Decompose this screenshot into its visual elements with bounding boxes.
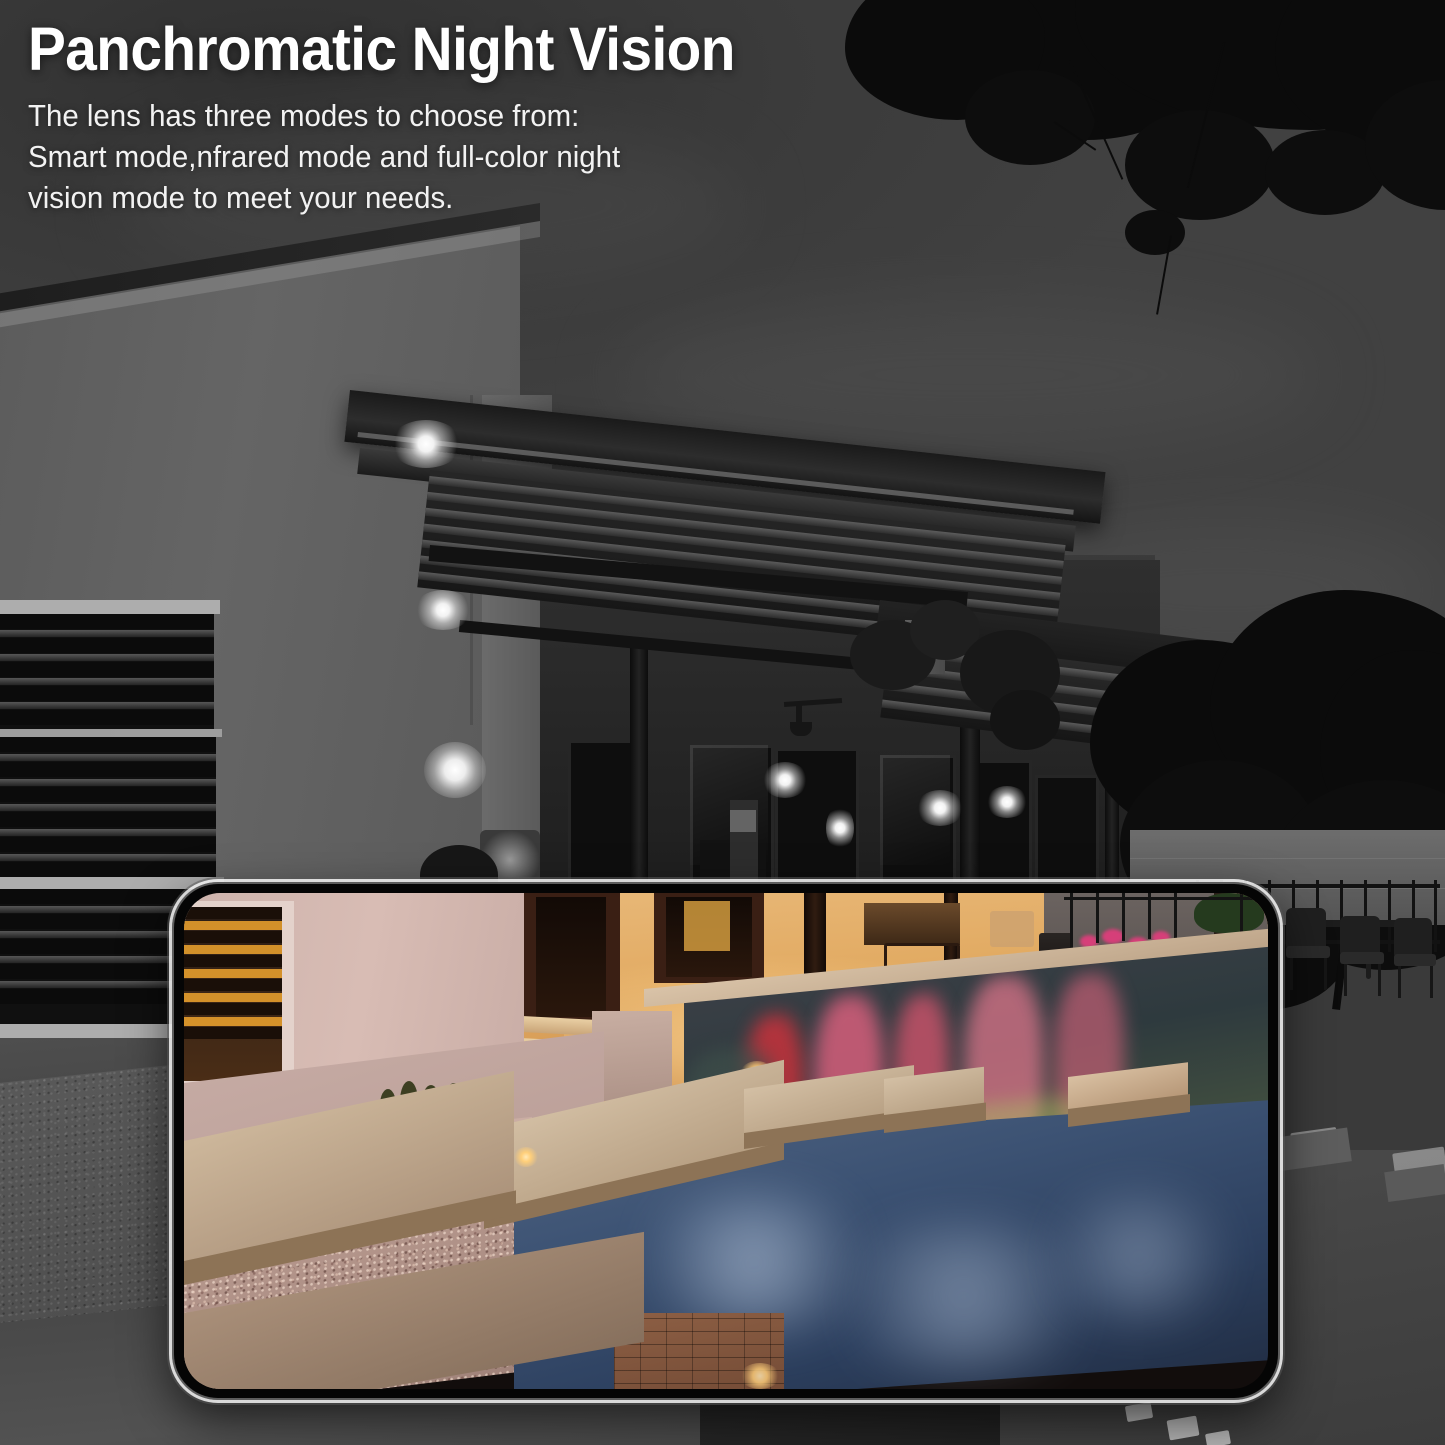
fence-rail-color (1064, 897, 1264, 900)
fence-picket (1070, 893, 1073, 949)
louvered-window-middle (0, 737, 216, 877)
soffit-spotlight (916, 790, 964, 826)
ceiling-fan-motor (790, 722, 812, 736)
fence-picket (1148, 893, 1151, 939)
stone-course-line (1130, 858, 1445, 859)
soffit-spotlight (414, 590, 472, 630)
interior-appliance-glass (730, 810, 756, 832)
soffit-spotlight (762, 762, 808, 798)
interior-table-color (990, 911, 1034, 947)
window-frame-top (0, 600, 220, 614)
fence-picket (1122, 893, 1125, 941)
interior-warm-window (684, 901, 730, 951)
fence-picket (1174, 893, 1177, 943)
marketing-body-text: The lens has three modes to choose from:… (28, 96, 897, 219)
soffit-spotlight (986, 786, 1028, 818)
tree-behind-roof (840, 600, 1070, 750)
soffit-spotlight (390, 420, 462, 468)
door-glass-color (536, 897, 606, 1017)
water-mist (1024, 1193, 1254, 1323)
louvered-window-color (184, 907, 282, 1081)
smartphone-frame[interactable] (172, 882, 1280, 1400)
body-line-3: vision mode to meet your needs. (28, 178, 897, 219)
page-title: Panchromatic Night Vision (28, 18, 865, 80)
body-line-1: The lens has three modes to choose from: (28, 96, 897, 137)
product-feature-banner: Panchromatic Night Vision The lens has t… (0, 0, 1445, 1445)
window-mullion (0, 729, 222, 737)
pendant-light (826, 806, 854, 850)
wall-sconce (424, 742, 486, 798)
pool-light (514, 1147, 538, 1167)
phone-screen-color-night-vision[interactable] (184, 893, 1268, 1389)
body-line-2: Smart mode,nfrared mode and full-color n… (28, 137, 897, 178)
tree-canopy-silhouette-top (845, 0, 1445, 350)
marketing-copy-block: Panchromatic Night Vision The lens has t… (28, 18, 928, 219)
window-mullion (0, 877, 224, 889)
pool-light (740, 1363, 780, 1389)
interior-furniture-color (864, 903, 960, 945)
fence-picket (1096, 893, 1099, 943)
louvered-window-upper (0, 614, 214, 729)
